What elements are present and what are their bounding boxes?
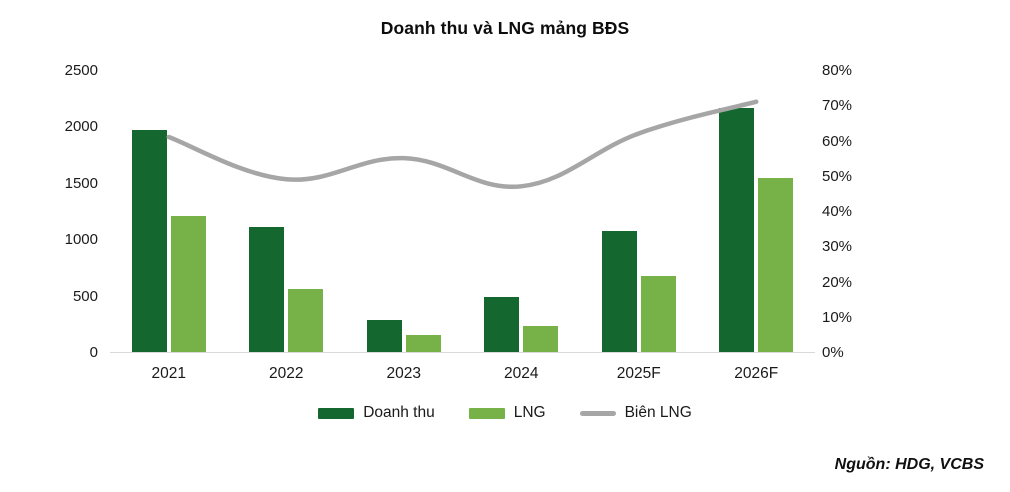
bar-group: [110, 70, 228, 352]
legend-bar-icon: [469, 408, 505, 419]
legend-label: Biên LNG: [625, 404, 692, 422]
legend-label: Doanh thu: [363, 404, 435, 422]
category-axis-tick: 2022: [228, 365, 346, 389]
bar-lng[interactable]: [406, 335, 441, 352]
legend-bar-icon: [318, 408, 354, 419]
bar-group: [345, 70, 463, 352]
left-axis-tick: 1500: [65, 176, 98, 191]
chart-container: Doanh thu và LNG mảng BĐS 05001000150020…: [0, 0, 1010, 492]
bar-group: [228, 70, 346, 352]
left-axis-tick: 2500: [65, 63, 98, 78]
left-axis-tick: 500: [73, 289, 98, 304]
bar-doanh-thu[interactable]: [719, 108, 754, 352]
right-axis-tick: 60%: [822, 134, 852, 149]
legend-item[interactable]: Doanh thu: [318, 404, 435, 422]
legend-item[interactable]: LNG: [469, 404, 546, 422]
bar-doanh-thu[interactable]: [132, 130, 167, 352]
right-axis-tick: 0%: [822, 345, 844, 360]
bar-group: [580, 70, 698, 352]
right-axis-tick: 30%: [822, 239, 852, 254]
bar-doanh-thu[interactable]: [367, 320, 402, 352]
chart-legend: Doanh thuLNGBiên LNG: [0, 404, 1010, 422]
bar-doanh-thu[interactable]: [249, 227, 284, 352]
right-percent-axis: 0%10%20%30%40%50%60%70%80%: [822, 70, 902, 352]
chart-title: Doanh thu và LNG mảng BĐS: [0, 18, 1010, 39]
legend-line-icon: [580, 411, 616, 416]
bar-lng[interactable]: [523, 326, 558, 352]
bar-lng[interactable]: [288, 289, 323, 352]
bars-layer: [110, 70, 815, 352]
category-axis-tick: 2023: [345, 365, 463, 389]
left-axis-tick: 1000: [65, 232, 98, 247]
right-axis-tick: 80%: [822, 63, 852, 78]
legend-label: LNG: [514, 404, 546, 422]
right-axis-tick: 10%: [822, 310, 852, 325]
bar-lng[interactable]: [171, 216, 206, 352]
bar-lng[interactable]: [758, 178, 793, 352]
category-axis-tick: 2024: [463, 365, 581, 389]
bar-lng[interactable]: [641, 276, 676, 352]
right-axis-tick: 70%: [822, 98, 852, 113]
right-axis-tick: 20%: [822, 275, 852, 290]
bar-group: [463, 70, 581, 352]
left-axis-tick: 0: [90, 345, 98, 360]
category-axis-tick: 2025F: [580, 365, 698, 389]
category-axis-tick: 2021: [110, 365, 228, 389]
left-axis-tick: 2000: [65, 119, 98, 134]
source-note: Nguồn: HDG, VCBS: [835, 456, 984, 474]
x-axis-baseline: [110, 352, 815, 353]
right-axis-tick: 40%: [822, 204, 852, 219]
bar-doanh-thu[interactable]: [602, 231, 637, 352]
bar-group: [698, 70, 816, 352]
right-axis-tick: 50%: [822, 169, 852, 184]
legend-item[interactable]: Biên LNG: [580, 404, 692, 422]
category-axis-tick: 2026F: [698, 365, 816, 389]
category-axis: 20212022202320242025F2026F: [110, 365, 815, 389]
left-value-axis: 05001000150020002500: [18, 70, 98, 352]
bar-doanh-thu[interactable]: [484, 297, 519, 352]
